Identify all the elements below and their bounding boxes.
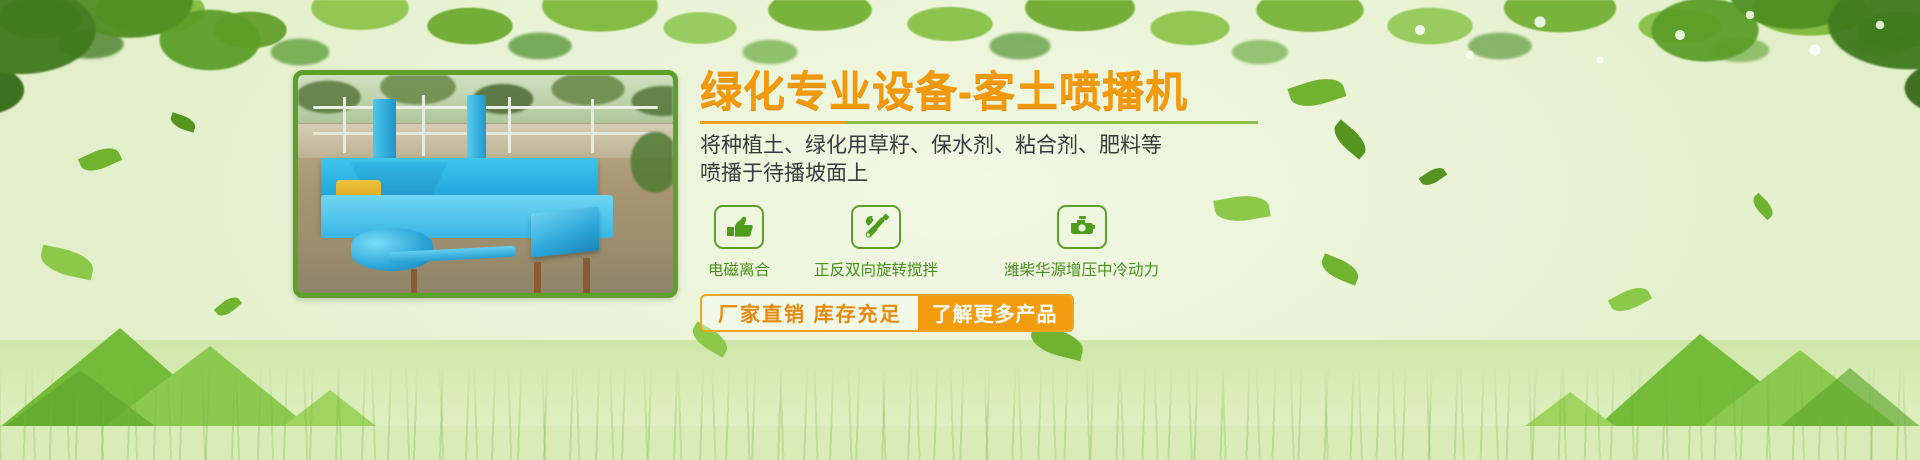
tree-left-decoration	[0, 0, 290, 150]
title-divider	[700, 121, 1258, 124]
feature-list: 电磁离合 正反双向旋转搅拌	[700, 205, 1300, 280]
feature-item-weichai-power: 潍柴华源增压中冷动力	[1004, 205, 1159, 280]
promo-banner: 绿化专业设备-客土喷播机 将种植土、绿化用草籽、保水剂、粘合剂、肥料等 喷播于待…	[0, 0, 1920, 460]
wrench-screwdriver-icon	[851, 205, 901, 249]
banner-subtitle: 将种植土、绿化用草籽、保水剂、粘合剂、肥料等 喷播于待播坡面上	[700, 132, 1300, 189]
feature-item-bidirectional-mixing: 正反双向旋转搅拌	[814, 205, 938, 280]
feature-label: 电磁离合	[708, 258, 770, 280]
grass-tufts	[0, 364, 1920, 460]
feature-label: 潍柴华源增压中冷动力	[1004, 258, 1159, 280]
subtitle-line-1: 将种植土、绿化用草籽、保水剂、粘合剂、肥料等	[700, 134, 1162, 157]
learn-more-button[interactable]: 了解更多产品	[918, 296, 1072, 330]
cta-bar: 厂家直销 库存充足 了解更多产品	[700, 294, 1074, 332]
product-photo	[293, 70, 678, 298]
feature-label: 正反双向旋转搅拌	[814, 258, 938, 280]
cta-slogan: 厂家直销 库存充足	[702, 296, 918, 330]
leaf-icon	[1329, 119, 1372, 159]
engine-icon	[1057, 205, 1107, 249]
leaf-icon	[1419, 164, 1448, 190]
blossoms-decoration	[1360, 0, 1920, 120]
subtitle-line-2: 喷播于待播坡面上	[700, 160, 1300, 188]
page-title: 绿化专业设备-客土喷播机	[700, 68, 1300, 115]
thumbs-up-icon	[714, 205, 764, 249]
banner-content: 绿化专业设备-客土喷播机 将种植土、绿化用草籽、保水剂、粘合剂、肥料等 喷播于待…	[700, 68, 1300, 332]
feature-item-electromagnetic-clutch: 电磁离合	[708, 205, 770, 280]
leaf-icon	[1749, 193, 1777, 221]
